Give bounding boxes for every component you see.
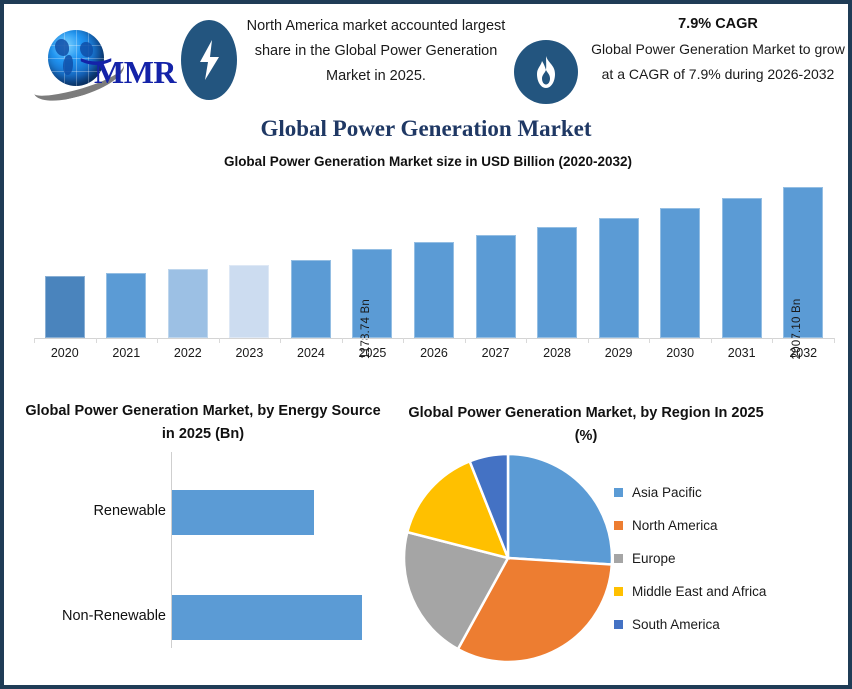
bar-slot (649, 180, 711, 338)
legend-label: Middle East and Africa (632, 584, 766, 599)
hbar-label-renewable: Renewable (18, 503, 166, 519)
bar-slot: 2007.10 Bn (772, 180, 834, 338)
bar-x-label-2022: 2022 (157, 346, 219, 360)
bar-x-label-2032: 2032 (772, 346, 834, 360)
legend-item-middle-east-and-africa: Middle East and Africa (614, 575, 846, 608)
bar-2023 (229, 265, 269, 338)
pie-slice-asia-pacific (508, 454, 612, 565)
legend-item-north-america: North America (614, 509, 846, 542)
page-title: Global Power Generation Market (4, 116, 848, 142)
bar-2027 (476, 235, 516, 338)
bar-2022 (168, 269, 208, 338)
header: ‿ MMR North America market accounted lar… (4, 4, 848, 114)
axis-tick (96, 338, 97, 343)
pie-chart-legend: Asia PacificNorth AmericaEuropeMiddle Ea… (614, 476, 846, 641)
bar-slot (219, 180, 281, 338)
bar-x-label-2029: 2029 (588, 346, 650, 360)
hbar-chart-title: Global Power Generation Market, by Energ… (18, 400, 388, 446)
cagr-title: 7.9% CAGR (590, 12, 846, 36)
bar-x-label-2031: 2031 (711, 346, 773, 360)
legend-label: North America (632, 518, 718, 533)
bar-slot: 1178.74 Bn (342, 180, 404, 338)
lightning-bolt-icon (181, 20, 237, 100)
axis-tick (157, 338, 158, 343)
hbar-non-renewable (172, 595, 362, 640)
bar-2021 (106, 273, 146, 338)
bar-slot (403, 180, 465, 338)
bar-x-label-2030: 2030 (649, 346, 711, 360)
cagr-block: 7.9% CAGR Global Power Generation Market… (590, 12, 846, 87)
axis-tick (772, 338, 773, 343)
bar-2026 (414, 242, 454, 338)
bar-2024 (291, 260, 331, 338)
legend-label: Europe (632, 551, 676, 566)
axis-tick (711, 338, 712, 343)
axis-tick (34, 338, 35, 343)
bar-2028 (537, 227, 577, 338)
axis-tick (280, 338, 281, 343)
bar-chart-plot: 1178.74 Bn2007.10 Bn (34, 180, 834, 338)
mmr-logo: ‿ MMR (18, 18, 178, 102)
bar-2025: 1178.74 Bn (352, 249, 392, 338)
bar-slot (34, 180, 96, 338)
axis-tick (588, 338, 589, 343)
bar-slot (280, 180, 342, 338)
axis-tick (834, 338, 835, 343)
bar-2032: 2007.10 Bn (783, 187, 823, 338)
bar-chart-axis (34, 338, 834, 339)
region-pie-chart: Global Power Generation Market, by Regio… (396, 402, 848, 674)
legend-swatch-icon (614, 488, 623, 497)
legend-swatch-icon (614, 521, 623, 530)
axis-tick (526, 338, 527, 343)
bar-2020 (45, 276, 85, 338)
legend-item-south-america: South America (614, 608, 846, 641)
bar-x-label-2023: 2023 (219, 346, 281, 360)
axis-tick (342, 338, 343, 343)
flame-icon (514, 40, 578, 104)
bar-slot (465, 180, 527, 338)
legend-label: South America (632, 617, 720, 632)
logo-text: MMR (94, 54, 176, 91)
axis-tick (219, 338, 220, 343)
axis-tick (403, 338, 404, 343)
bar-x-label-2024: 2024 (280, 346, 342, 360)
bar-chart-title: Global Power Generation Market size in U… (8, 154, 848, 169)
bar-slot (711, 180, 773, 338)
cagr-description: Global Power Generation Market to grow a… (590, 37, 846, 87)
legend-item-asia-pacific: Asia Pacific (614, 476, 846, 509)
bar-slot (157, 180, 219, 338)
legend-label: Asia Pacific (632, 485, 702, 500)
headline-north-america: North America market accounted largest s… (242, 14, 510, 89)
axis-tick (465, 338, 466, 343)
bar-2030 (660, 208, 700, 338)
bar-2031 (722, 198, 762, 338)
hbar-renewable (172, 490, 314, 535)
bar-x-label-2027: 2027 (465, 346, 527, 360)
bar-x-label-2020: 2020 (34, 346, 96, 360)
bar-slot (588, 180, 650, 338)
bar-x-label-2025: 2025 (342, 346, 404, 360)
pie-chart-title: Global Power Generation Market, by Regio… (396, 402, 776, 448)
market-size-bar-chart: Global Power Generation Market size in U… (8, 154, 848, 374)
bar-x-label-2028: 2028 (526, 346, 588, 360)
bar-2029 (599, 218, 639, 338)
hbar-label-non-renewable: Non-Renewable (18, 608, 166, 624)
legend-swatch-icon (614, 620, 623, 629)
infographic-frame: ‿ MMR North America market accounted lar… (0, 0, 852, 689)
bar-slot (96, 180, 158, 338)
legend-swatch-icon (614, 587, 623, 596)
bar-x-label-2021: 2021 (96, 346, 158, 360)
energy-source-bar-chart: Global Power Generation Market, by Energ… (18, 400, 388, 670)
legend-item-europe: Europe (614, 542, 846, 575)
legend-swatch-icon (614, 554, 623, 563)
axis-tick (649, 338, 650, 343)
pie-chart-svg (400, 450, 616, 666)
bar-x-label-2026: 2026 (403, 346, 465, 360)
bar-slot (526, 180, 588, 338)
hbar-chart-plot: RenewableNon-Renewable (18, 452, 388, 660)
